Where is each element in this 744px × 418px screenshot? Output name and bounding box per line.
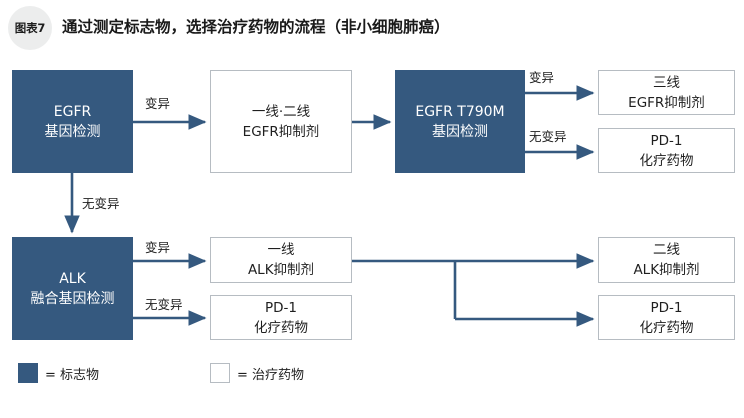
node-line-1: EGFR [54, 102, 91, 122]
node-line-2: EGFR抑制剂 [243, 122, 320, 142]
node-line-2: 化疗药物 [254, 318, 308, 338]
edge-label-t790m-mutation: 变异 [529, 67, 554, 86]
node-line-1: 二线 [653, 240, 680, 260]
node-line-1: 一线 [268, 240, 295, 260]
node-pd1-chemo-bottom[interactable]: PD-1 化疗药物 [598, 295, 735, 340]
node-line-1: 一线·二线 [252, 102, 310, 122]
node-line-2: 化疗药物 [640, 318, 694, 338]
node-egfr-inhibitor-first-second-line[interactable]: 一线·二线 EGFR抑制剂 [210, 70, 352, 173]
legend-label-drug: = 治疗药物 [237, 364, 304, 383]
node-alk-test[interactable]: ALK 融合基因检测 [12, 237, 133, 340]
node-line-1: 三线 [653, 73, 680, 93]
legend-item-drug: = 治疗药物 [210, 363, 304, 383]
node-egfr-test[interactable]: EGFR 基因检测 [12, 70, 133, 173]
node-alk-inhibitor-second-line[interactable]: 二线 ALK抑制剂 [598, 237, 735, 283]
node-line-2: 融合基因检测 [31, 289, 115, 309]
node-line-1: PD-1 [651, 131, 683, 151]
node-egfr-inhibitor-third-line[interactable]: 三线 EGFR抑制剂 [598, 70, 735, 115]
node-line-1: PD-1 [651, 298, 683, 318]
figure-container: 图表7 通过测定标志物，选择治疗药物的流程（非小细胞肺癌） [0, 0, 744, 418]
node-line-2: 基因检测 [432, 122, 488, 142]
legend: = 标志物 = 治疗药物 [0, 355, 744, 395]
node-line-2: EGFR抑制剂 [628, 93, 705, 113]
edge-label-alk-no-mutation: 无变异 [145, 294, 183, 313]
node-t790m-test[interactable]: EGFR T790M 基因检测 [395, 70, 525, 173]
legend-swatch-marker-icon [18, 363, 38, 383]
node-line-1: ALK [59, 269, 86, 289]
figure-badge-label: 图表7 [8, 6, 52, 50]
edge-label-alk-mutation: 变异 [145, 237, 170, 256]
node-line-2: ALK抑制剂 [248, 260, 314, 280]
edge-label-egfr-no-mutation: 无变异 [82, 193, 120, 212]
node-alk-inhibitor-first-line[interactable]: 一线 ALK抑制剂 [210, 237, 352, 283]
edge-label-egfr-mutation: 变异 [145, 93, 170, 112]
legend-label-marker: = 标志物 [45, 364, 99, 383]
page-title: 通过测定标志物，选择治疗药物的流程（非小细胞肺癌） [62, 0, 450, 55]
figure-header: 图表7 通过测定标志物，选择治疗药物的流程（非小细胞肺癌） [0, 0, 744, 55]
legend-swatch-drug-icon [210, 363, 230, 383]
edge-label-t790m-no-mutation: 无变异 [529, 126, 567, 145]
node-pd1-chemo-mid[interactable]: PD-1 化疗药物 [210, 295, 352, 340]
node-line-2: ALK抑制剂 [633, 260, 699, 280]
node-line-1: EGFR T790M [415, 102, 504, 122]
node-line-2: 化疗药物 [640, 151, 694, 171]
node-pd1-chemo-top[interactable]: PD-1 化疗药物 [598, 128, 735, 173]
legend-item-marker: = 标志物 [18, 363, 99, 383]
node-line-2: 基因检测 [45, 122, 101, 142]
node-line-1: PD-1 [265, 298, 297, 318]
